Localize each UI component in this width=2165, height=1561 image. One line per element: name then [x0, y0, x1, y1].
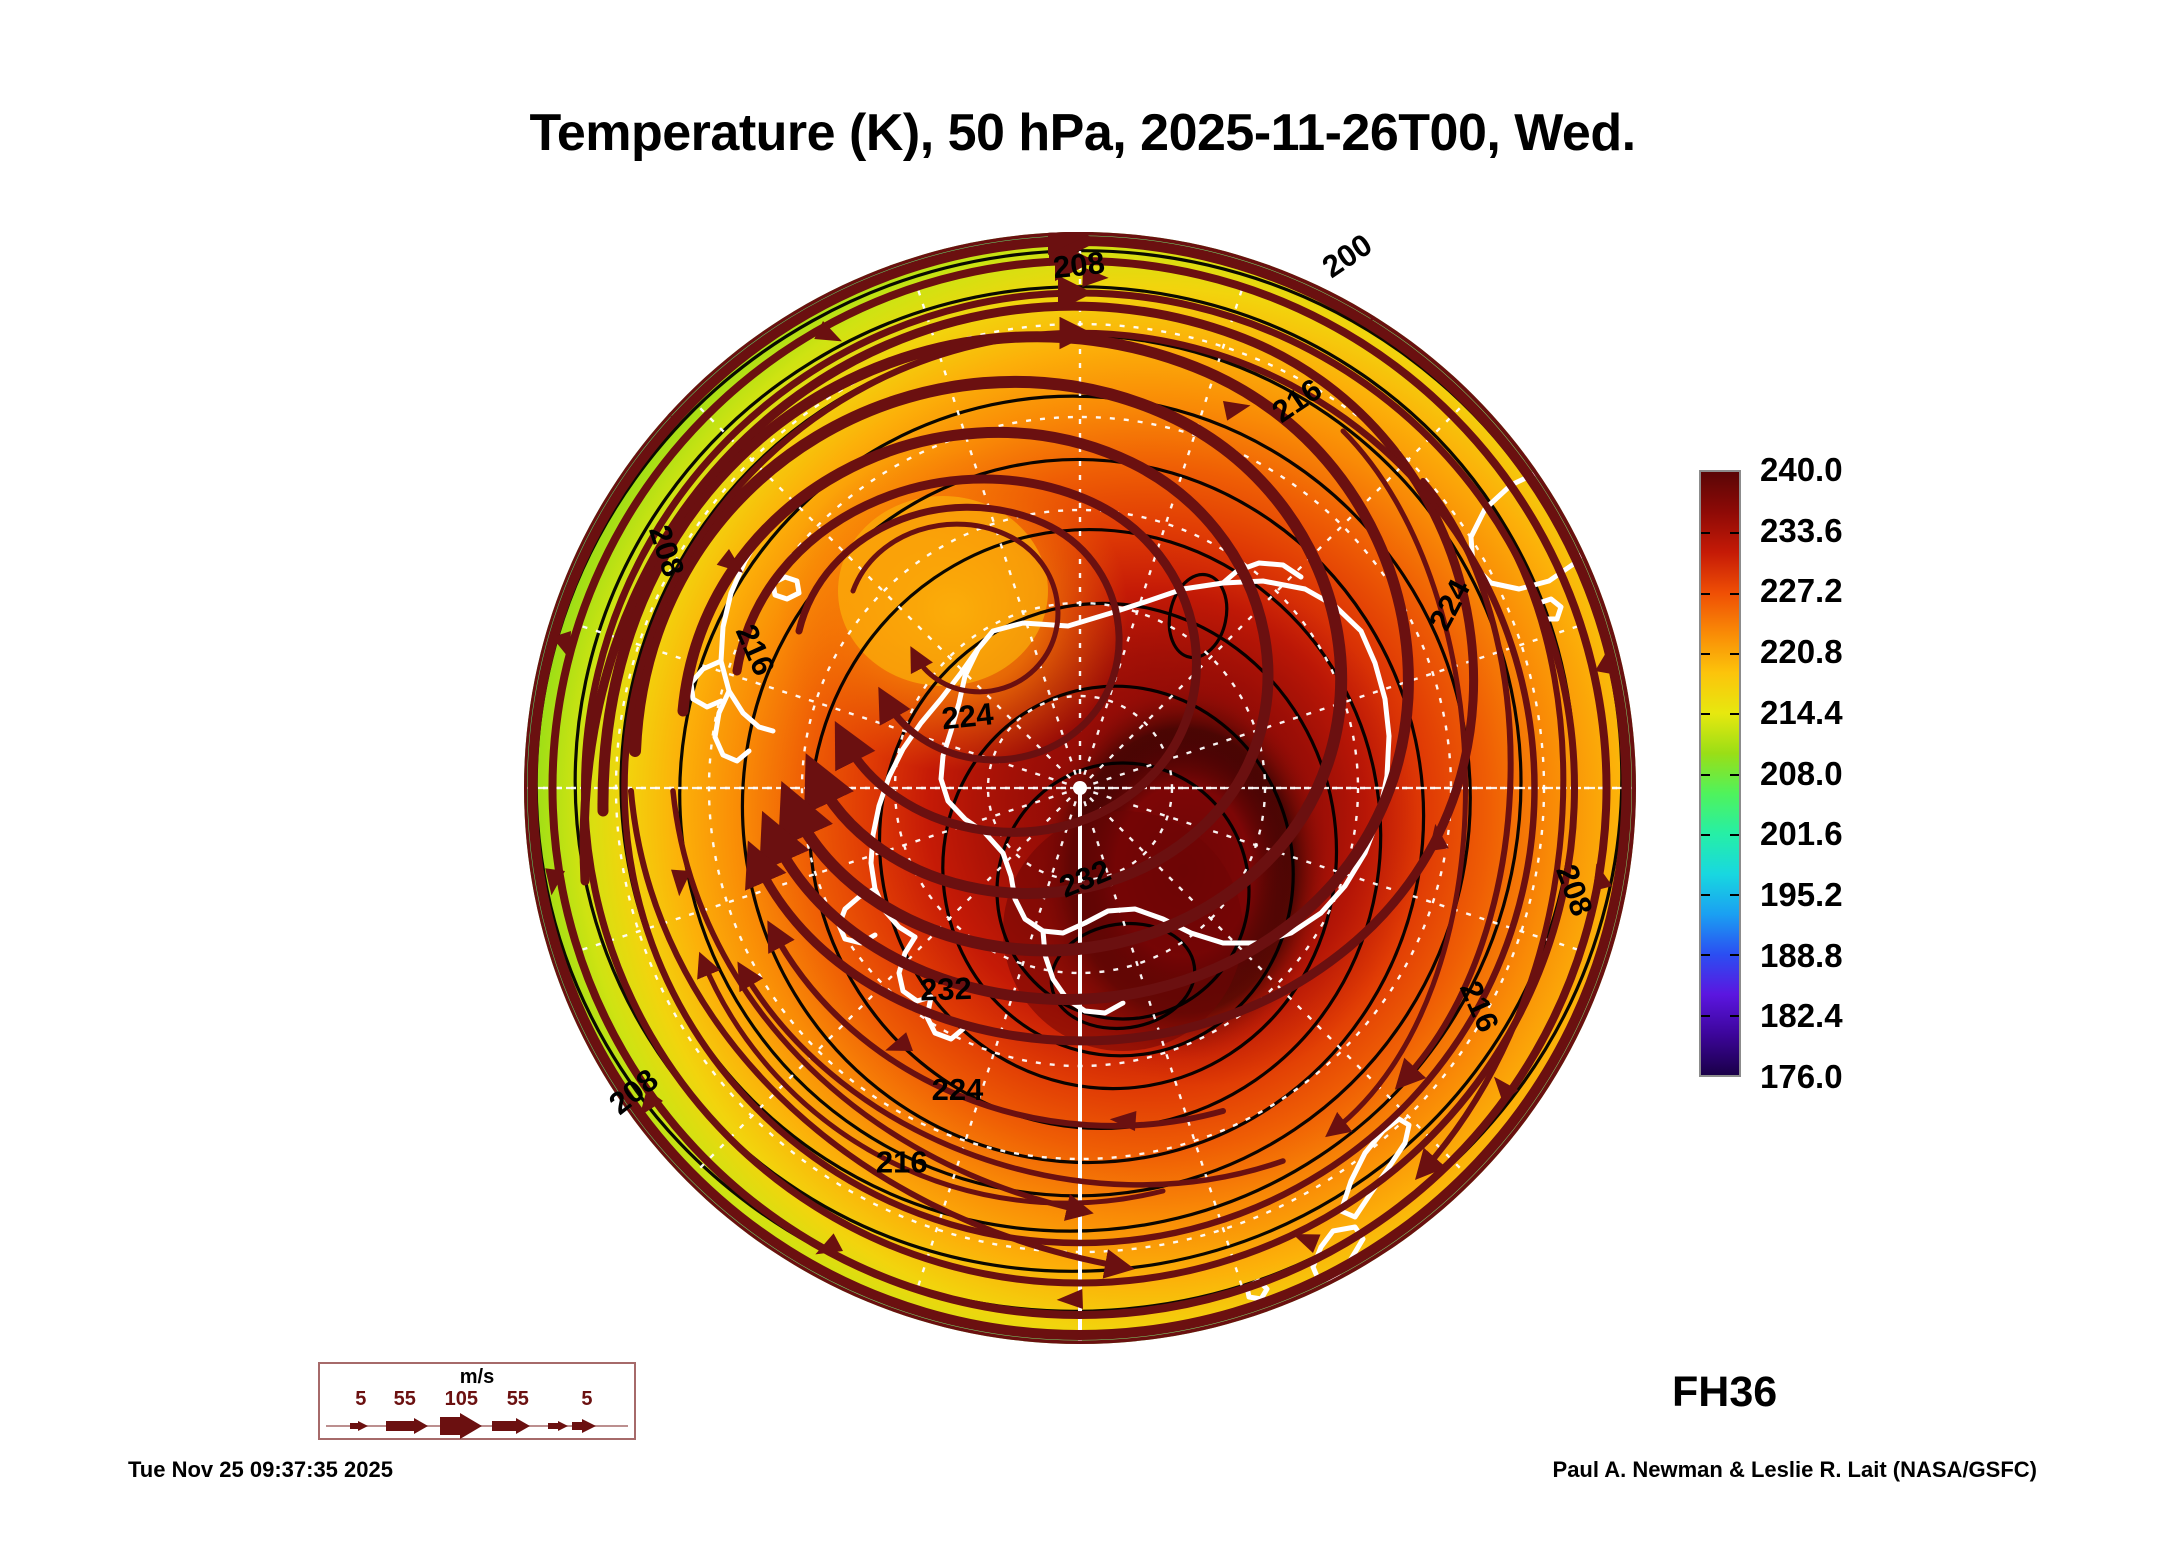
colorbar-tick-label: 188.8 — [1760, 937, 1843, 975]
colorbar-tick — [1701, 834, 1710, 836]
colorbar-tick — [1701, 774, 1710, 776]
colorbar-tick — [1701, 1015, 1710, 1017]
contour-label: 208 — [1051, 245, 1106, 285]
contour-label: 216 — [876, 1144, 928, 1179]
map-svg: 2082002162242082162242322322162082242162… — [523, 231, 1637, 1345]
forecast-hour-label: FH36 — [1672, 1368, 1777, 1417]
colorbar-tick-label: 208.0 — [1760, 755, 1843, 793]
colorbar-tick — [1701, 954, 1710, 956]
colorbar-tick — [1730, 713, 1739, 715]
colorbar-tick — [1701, 532, 1710, 534]
colorbar — [1699, 470, 1741, 1077]
colorbar-tick-label: 220.8 — [1760, 633, 1843, 671]
colorbar-tick — [1730, 653, 1739, 655]
author-credit: Paul A. Newman & Leslie R. Lait (NASA/GS… — [1553, 1457, 2037, 1483]
colorbar-tick — [1701, 894, 1710, 896]
wind-legend-unit: m/s — [320, 1366, 634, 1389]
colorbar-tick — [1730, 894, 1739, 896]
colorbar-tick-label: 214.4 — [1760, 694, 1843, 732]
contour-label: 200 — [1316, 231, 1378, 285]
map-contents — [523, 231, 1637, 1345]
colorbar-tick-label: 176.0 — [1760, 1058, 1843, 1096]
colorbar-tick — [1730, 593, 1739, 595]
colorbar-tick — [1730, 1015, 1739, 1017]
south-pole-marker — [1073, 781, 1087, 795]
wind-legend-values: 555105555 — [320, 1388, 634, 1414]
colorbar-labels: 240.0233.6227.2220.8214.4208.0201.6195.2… — [1760, 470, 1990, 1077]
wind-legend-value: 55 — [507, 1388, 529, 1411]
colorbar-tick-label: 195.2 — [1760, 876, 1843, 914]
colorbar-tick — [1730, 834, 1739, 836]
colorbar-tick — [1701, 653, 1710, 655]
contour-label: 224 — [932, 1072, 984, 1107]
colorbar-tick-label: 233.6 — [1760, 512, 1843, 550]
contour-label: 224 — [940, 696, 996, 736]
colorbar-tick-label: 240.0 — [1760, 451, 1843, 489]
colorbar-tick-label: 227.2 — [1760, 572, 1843, 610]
wind-legend-arrow-svg — [320, 1412, 634, 1440]
colorbar-ticks — [1701, 472, 1739, 1075]
colorbar-tick-label: 201.6 — [1760, 815, 1843, 853]
wind-legend-value: 5 — [581, 1388, 592, 1411]
wind-speed-legend: m/s 555105555 — [318, 1362, 636, 1440]
colorbar-tick — [1730, 774, 1739, 776]
page-title: Temperature (K), 50 hPa, 2025-11-26T00, … — [0, 103, 2165, 163]
polar-map: 2082002162242082162242322322162082242162… — [523, 231, 1637, 1345]
colorbar-tick — [1730, 954, 1739, 956]
colorbar-tick — [1701, 593, 1710, 595]
colorbar-tick — [1701, 713, 1710, 715]
plot-canvas: Temperature (K), 50 hPa, 2025-11-26T00, … — [0, 0, 2165, 1561]
wind-legend-arrows — [320, 1412, 634, 1440]
wind-legend-value: 55 — [394, 1388, 416, 1411]
generation-timestamp: Tue Nov 25 09:37:35 2025 — [128, 1457, 393, 1483]
wind-legend-value: 105 — [445, 1388, 478, 1411]
wind-legend-value: 5 — [355, 1388, 366, 1411]
colorbar-tick-label: 182.4 — [1760, 997, 1843, 1035]
colorbar-tick — [1730, 532, 1739, 534]
contour-label: 232 — [919, 971, 972, 1008]
